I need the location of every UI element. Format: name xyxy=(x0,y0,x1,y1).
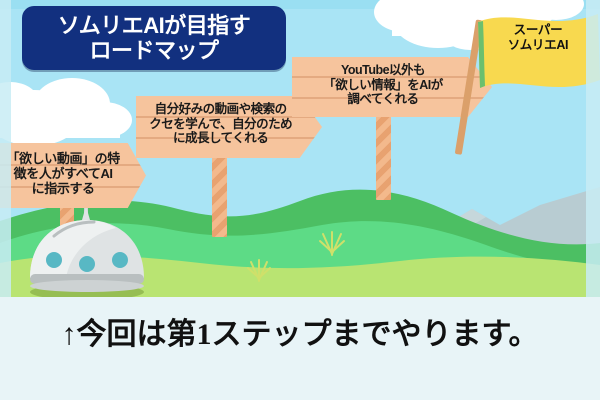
sign-line: 自分好みの動画や検索の xyxy=(136,102,305,117)
right-edge-strip xyxy=(586,0,600,297)
sign-line: 「欲しい情報」をAIが xyxy=(292,78,474,93)
caption-area: ↑今回は第1ステップまでやります。 xyxy=(0,297,600,400)
signpost-post-2 xyxy=(212,155,227,237)
title-text: ソムリエAIが目指す ロードマップ xyxy=(58,13,251,64)
ufo-robot xyxy=(24,206,150,297)
left-edge-strip xyxy=(0,0,11,297)
caption-text: ↑今回は第1ステップまでやります。 xyxy=(62,309,539,353)
sign-line: 「欲しい動画」の特 xyxy=(0,151,132,166)
flag-line: ソムリエAI xyxy=(477,38,599,53)
roadmap-infographic: 「欲しい動画」の特 徴を人がすべてAI に指示する 自分好みの動画や検索の クセ… xyxy=(0,0,600,400)
grass-tuft-icon xyxy=(318,224,346,256)
sign-line: に指示する xyxy=(0,181,132,196)
title-banner: ソムリエAIが目指す ロードマップ xyxy=(22,6,286,70)
flag-line: スーパー xyxy=(477,23,599,38)
title-line-1: ソムリエAIが目指す xyxy=(58,13,251,38)
sign-line: 調べてくれる xyxy=(292,92,474,107)
sign-line: クセを学んで、自分のため xyxy=(136,117,305,132)
signpost-step-1[interactable]: 「欲しい動画」の特 徴を人がすべてAI に指示する xyxy=(0,143,146,208)
signpost-post-3 xyxy=(376,114,391,200)
goal-flag[interactable]: スーパー ソムリエAI xyxy=(452,6,600,156)
flag-text: スーパー ソムリエAI xyxy=(477,12,599,78)
grass-tuft-icon xyxy=(246,252,272,282)
sign-line: 徴を人がすべてAI xyxy=(0,166,132,181)
title-line-2: ロードマップ xyxy=(58,38,251,63)
sign-line: YouTube以外も xyxy=(292,63,474,78)
sign-line: に成長してくれる xyxy=(136,131,305,146)
sign-board-1: 「欲しい動画」の特 徴を人がすべてAI に指示する xyxy=(0,143,146,208)
